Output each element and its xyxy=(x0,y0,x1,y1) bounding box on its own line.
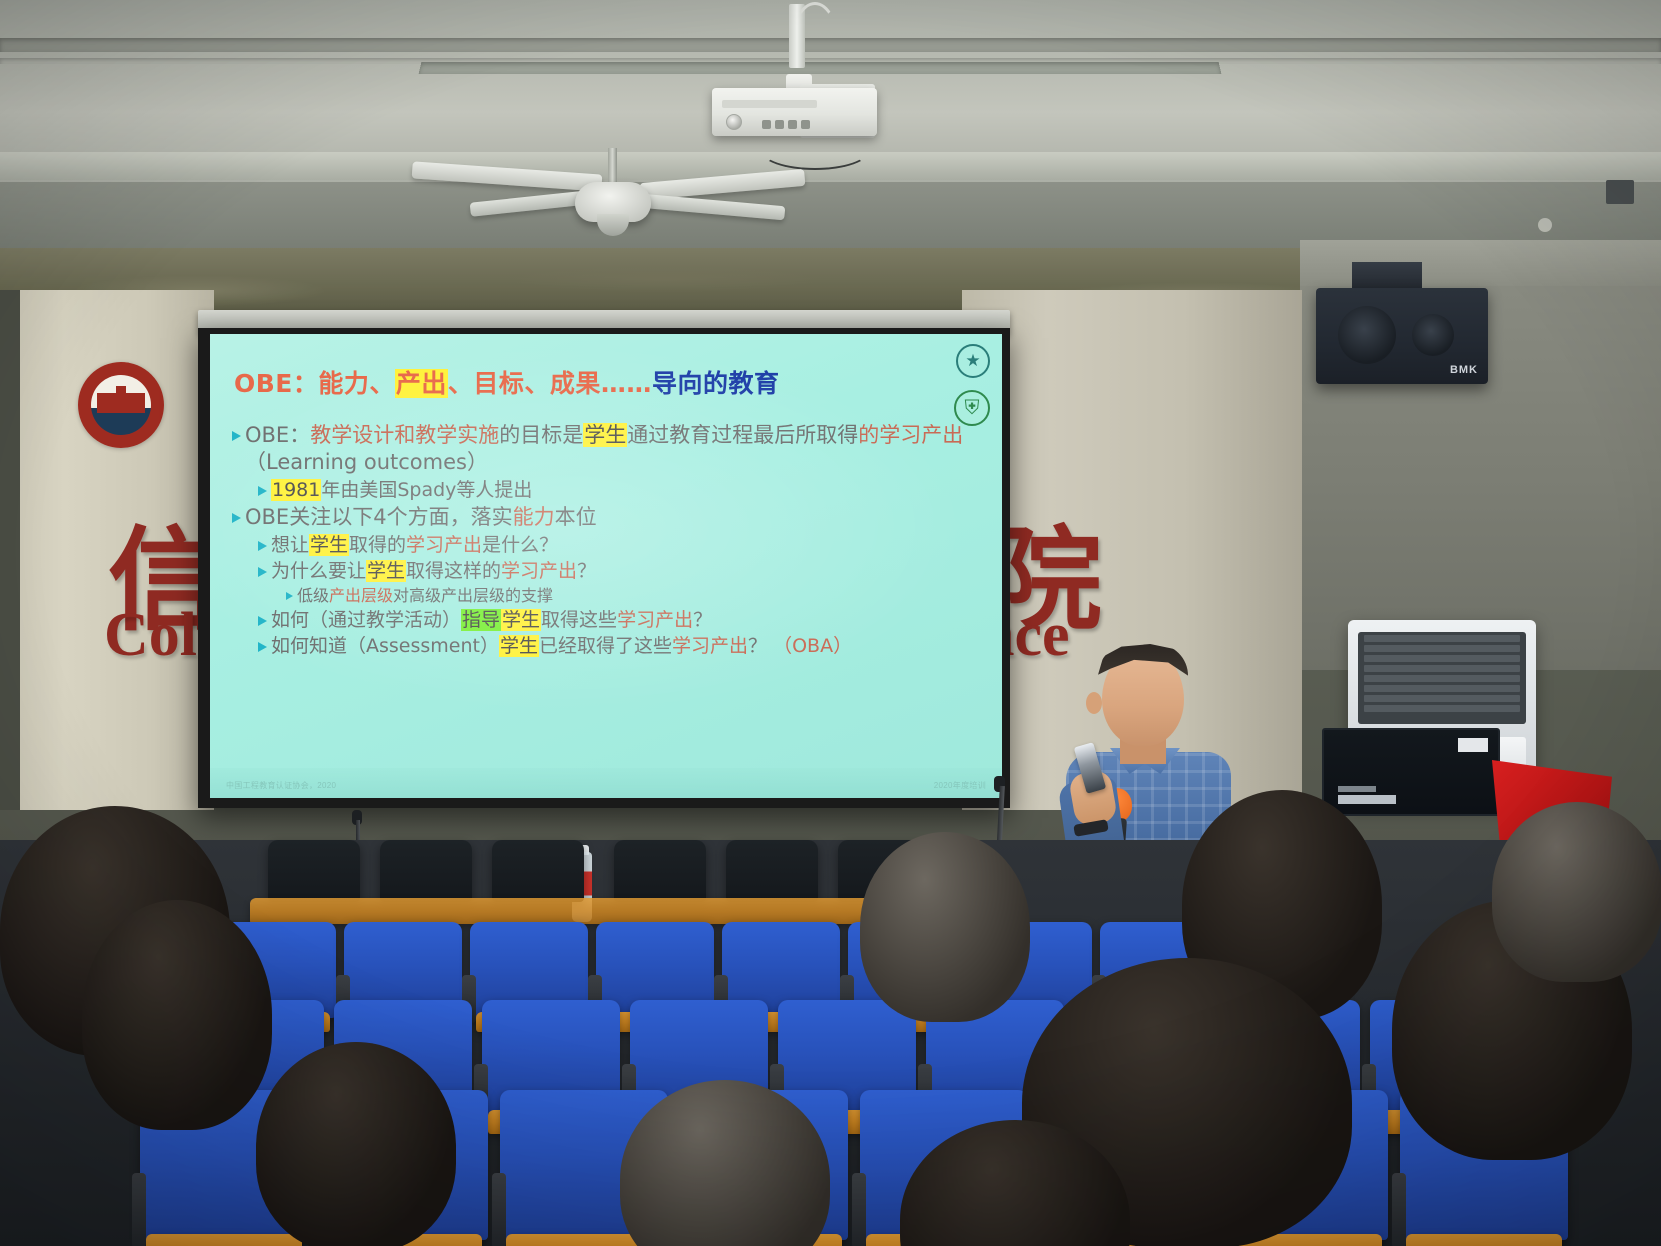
chair-far xyxy=(614,840,706,902)
slide-bullet-text: 如何（通过教学活动）指导学生取得这些学习产出？ xyxy=(271,608,712,632)
projector-ports xyxy=(762,116,832,128)
slide-bullet-3: OBE关注以下4个方面，落实能力本位 xyxy=(232,504,984,531)
bullet-marker-icon xyxy=(258,567,267,577)
bullet-1-part-4: 学生 xyxy=(583,423,627,447)
slide-bullet-5: 为什么要让学生取得这样的学习产出？ xyxy=(258,559,984,583)
slide-bullet-1: OBE：教学设计和教学实施的目标是学生通过教育过程最后所取得的学习产出（Lear… xyxy=(232,422,984,476)
slide-logo-shield-icon: ⛨ xyxy=(954,390,990,426)
speaker-tweeter-icon xyxy=(1412,314,1454,356)
slide-bullet-8: 如何知道（Assessment）学生已经取得了这些学习产出？ （OBA） xyxy=(258,634,984,658)
bullet-7-part-5: 学习产出 xyxy=(617,609,693,631)
slide-title-seg3: 、目标、成果…… xyxy=(448,369,652,398)
slide-title-seg2: 产出 xyxy=(395,369,448,398)
bullet-6-part-1: 低级 xyxy=(297,586,329,605)
ceiling-projector xyxy=(712,88,877,136)
wall-fixture xyxy=(1538,218,1552,232)
bullet-5-part-1: 为什么要让 xyxy=(271,560,366,582)
bullet-marker-icon xyxy=(258,642,267,652)
slide-title-seg1: 能力、 xyxy=(318,369,395,398)
university-crest-icon xyxy=(78,362,164,448)
slide-bullet-text: 想让学生取得的学习产出是什么？ xyxy=(271,533,558,557)
monitor-bezel-label xyxy=(1338,795,1396,804)
slide-bullet-list: OBE：教学设计和教学实施的目标是学生通过教育过程最后所取得的学习产出（Lear… xyxy=(232,422,984,661)
audience-head-8 xyxy=(256,1042,456,1246)
chair-far xyxy=(268,840,360,902)
bullet-2-part-2: 年由美国Spady等人提出 xyxy=(321,479,532,501)
chair-far xyxy=(380,840,472,902)
projector-lens-icon xyxy=(726,114,742,130)
chair-armrest xyxy=(492,1173,506,1246)
slide-bullet-6: 低级产出层级对高级产出层级的支撑 xyxy=(286,586,984,606)
bullet-4-part-4: 学习产出 xyxy=(406,534,482,556)
slide-title: OBE：能力、产出、目标、成果……导向的教育 xyxy=(234,364,779,400)
bullet-marker-icon xyxy=(258,616,267,626)
bullet-1-part-1: OBE： xyxy=(245,423,310,447)
bullet-marker-icon xyxy=(258,541,267,551)
bullet-4-part-5: 是什么？ xyxy=(482,534,558,556)
bullet-2-part-1: 1981 xyxy=(271,479,321,501)
chair-far xyxy=(492,840,584,902)
fan-rod xyxy=(608,148,617,186)
slide-bullet-text: 如何知道（Assessment）学生已经取得了这些学习产出？ （OBA） xyxy=(271,634,852,658)
bullet-7-part-2: 指导 xyxy=(461,609,501,631)
crest-building-icon xyxy=(97,393,145,413)
slide-bullet-7: 如何（通过教学活动）指导学生取得这些学习产出？ xyxy=(258,608,984,632)
audience-head-7 xyxy=(1492,802,1661,982)
speaker-cone-icon xyxy=(1338,306,1396,364)
bullet-7-part-1: 如何（通过教学活动） xyxy=(271,609,461,631)
presenter-ear xyxy=(1086,692,1102,714)
chair-desk-row3 xyxy=(146,1234,302,1246)
desk-strip xyxy=(250,898,950,924)
slide-bullet-text: 1981年由美国Spady等人提出 xyxy=(271,478,532,502)
crest-inner xyxy=(91,375,151,435)
slide-bullet-4: 想让学生取得的学习产出是什么？ xyxy=(258,533,984,557)
chair-desk-row3 xyxy=(1406,1234,1562,1246)
bullet-8-part-4: 学习产出 xyxy=(672,635,748,657)
chair-armrest xyxy=(852,1173,866,1246)
bullet-7-part-3: 学生 xyxy=(501,609,541,631)
ceiling-fan-motor xyxy=(575,182,651,222)
lecture-hall-scene: 信 院 Coll nce BMK ★ ⛨ OBE：能力、产出、目标、成果……导向… xyxy=(0,0,1661,1246)
bullet-3-part-2: 能力 xyxy=(513,505,555,529)
bullet-5-part-4: 学习产出 xyxy=(501,560,577,582)
projector-power-cable xyxy=(760,130,870,170)
audience-head-3 xyxy=(860,832,1030,1022)
chair-far xyxy=(726,840,818,902)
bullet-marker-icon xyxy=(232,431,241,441)
chair-armrest xyxy=(1392,1173,1406,1246)
bullet-1-part-3: 的目标是 xyxy=(499,423,583,447)
podium-monitor xyxy=(1322,728,1500,816)
bullet-5-part-3: 取得这样的 xyxy=(406,560,501,582)
bullet-4-part-1: 想让 xyxy=(271,534,309,556)
wall-loudspeaker: BMK xyxy=(1316,288,1488,384)
slide-title-prefix: OBE： xyxy=(234,369,318,398)
wall-edge-shadow xyxy=(0,290,20,810)
bullet-8-part-5: ？ xyxy=(748,635,773,657)
slide-footer-left: 中国工程教育认证协会，2020 xyxy=(226,780,336,791)
bullet-6-part-2: 产出层级 xyxy=(329,586,393,605)
bullet-8-part-1: 如何知道（Assessment） xyxy=(271,635,499,657)
bullet-4-part-3: 取得的 xyxy=(349,534,406,556)
bullet-1-part-7: （Learning outcomes） xyxy=(245,450,488,474)
slide-bullet-text: 为什么要让学生取得这样的学习产出？ xyxy=(271,559,596,583)
bullet-marker-icon xyxy=(286,592,293,600)
audience-head-2 xyxy=(82,900,272,1130)
bullet-marker-icon xyxy=(232,513,241,523)
monitor-bezel-label-2 xyxy=(1338,786,1376,792)
slide-bullet-text: 低级产出层级对高级产出层级的支撑 xyxy=(297,586,553,606)
projector-dark-panel xyxy=(1606,180,1634,204)
bullet-marker-icon xyxy=(258,486,267,496)
bullet-3-part-1: OBE关注以下4个方面，落实 xyxy=(245,505,513,529)
bullet-7-part-4: 取得这些 xyxy=(541,609,617,631)
slide-content: ★ ⛨ OBE：能力、产出、目标、成果……导向的教育 OBE：教学设计和教学实施… xyxy=(210,334,1002,798)
ac-grill-icon xyxy=(1358,632,1526,724)
bullet-3-part-3: 本位 xyxy=(555,505,597,529)
slide-bullet-2: 1981年由美国Spady等人提出 xyxy=(258,478,984,502)
slide-title-seg4: 导向的教育 xyxy=(652,369,780,398)
bullet-1-part-5: 通过教育过程最后所取得 xyxy=(627,423,858,447)
bullet-8-part-6: （OBA） xyxy=(773,635,852,657)
bullet-5-part-5: ？ xyxy=(577,560,596,582)
speaker-brand-label: BMK xyxy=(1450,364,1478,376)
slide-bullet-text: OBE：教学设计和教学实施的目标是学生通过教育过程最后所取得的学习产出（Lear… xyxy=(245,422,984,476)
bullet-8-part-2: 学生 xyxy=(499,635,539,657)
monitor-sticker xyxy=(1458,738,1488,752)
bullet-8-part-3: 已经取得了这些 xyxy=(539,635,672,657)
speaker-bracket xyxy=(1352,262,1422,290)
slide-bullet-text: OBE关注以下4个方面，落实能力本位 xyxy=(245,504,597,531)
bullet-4-part-2: 学生 xyxy=(309,534,349,556)
projection-screen: ★ ⛨ OBE：能力、产出、目标、成果……导向的教育 OBE：教学设计和教学实施… xyxy=(198,328,1010,808)
bullet-7-part-6: ？ xyxy=(693,609,712,631)
slide-footer-right: 2020年度培训 xyxy=(934,780,986,791)
chair-armrest xyxy=(132,1173,146,1246)
slide-logo-star-icon: ★ xyxy=(956,344,990,378)
bullet-1-part-6: 的学习产出 xyxy=(858,423,963,447)
bullet-5-part-2: 学生 xyxy=(366,560,406,582)
bullet-1-part-2: 教学设计和教学实施 xyxy=(310,423,499,447)
bullet-6-part-3: 对高级产出层级的支撑 xyxy=(393,586,553,605)
